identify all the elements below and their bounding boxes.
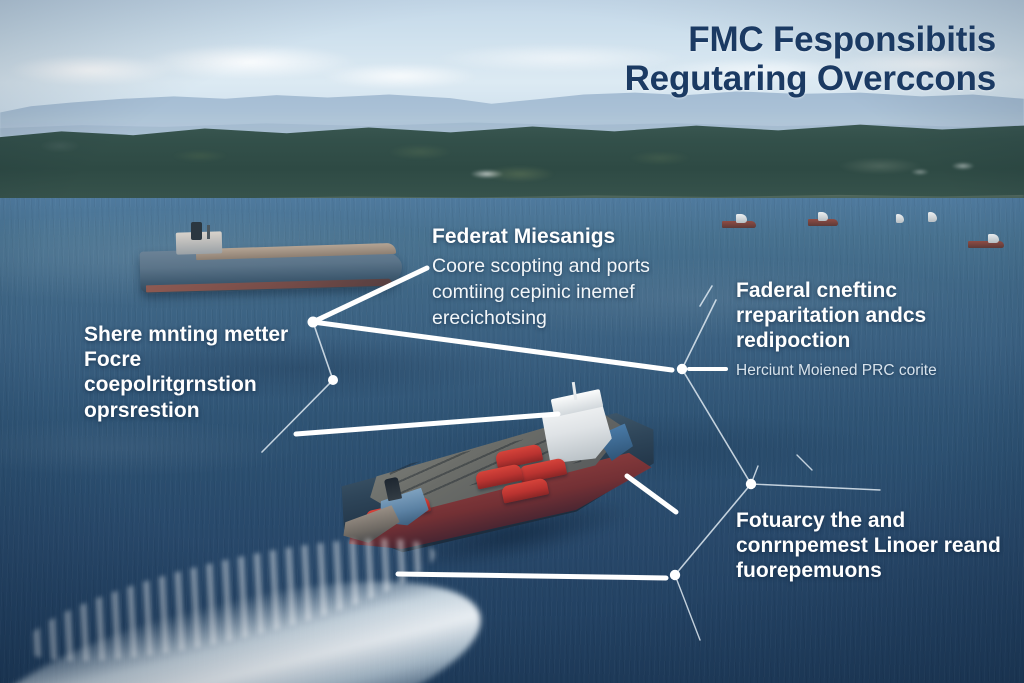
callout-top-body: Coore scopting and ports comtiing cepini…: [432, 254, 702, 331]
callout-right-subtext: Herciunt Moiened PRC coritе: [736, 361, 1004, 381]
callout-right: Faderal cneftinc rreparitation andcs red…: [736, 278, 1004, 381]
callout-bottom-heading: Fotuarcy the and conrnpemest Linoer rean…: [736, 508, 1004, 584]
callout-top-heading: Federat Miesanigs: [432, 224, 702, 249]
screenshot-canvas: FMC Fesponsibitis Regutaring Overccons F…: [0, 0, 1024, 683]
callout-left-heading: Shere mnting metter Focre coepolritgrnst…: [84, 322, 314, 423]
title-line-1: FMC Fesponsibitis: [688, 20, 996, 59]
callout-top: Federat Miesanigs Coore scopting and por…: [432, 224, 702, 331]
title-line-2: Regutaring Overccons: [436, 59, 996, 98]
callout-bottom: Fotuarcy the and conrnpemest Linoer rean…: [736, 508, 1004, 589]
callout-right-heading: Faderal cneftinc rreparitation andcs red…: [736, 278, 1004, 354]
callout-left: Shere mnting metter Focre coepolritgrnst…: [84, 322, 314, 428]
page-title: FMC Fesponsibitis Regutaring Overccons: [436, 20, 996, 98]
